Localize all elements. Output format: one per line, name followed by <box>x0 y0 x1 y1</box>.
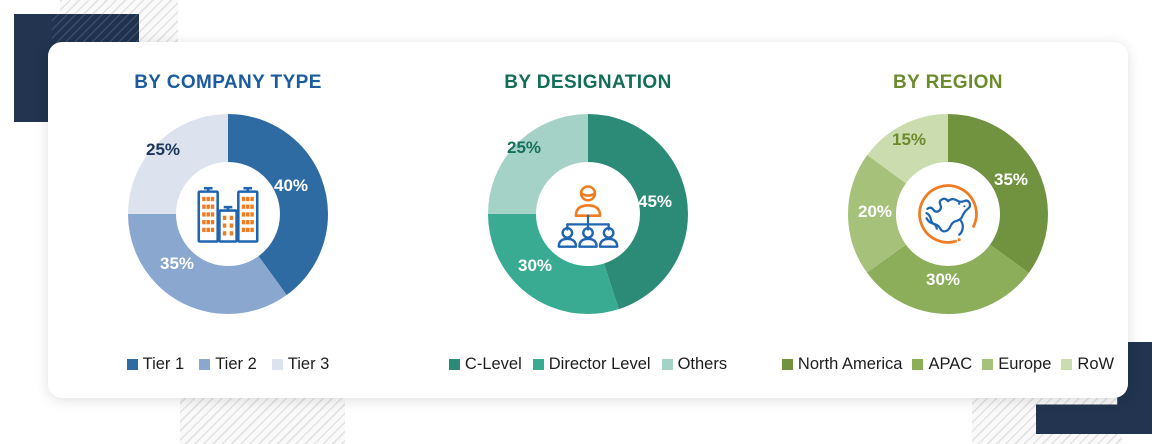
panel-title-region: BY REGION <box>893 72 1003 94</box>
legend-label: C-Level <box>465 355 522 374</box>
legend-swatch-icon <box>199 359 210 370</box>
donut-chart-region: 35% 30% 20% 15% <box>842 108 1054 320</box>
corner-bracket-top-left-solid <box>14 14 52 122</box>
legend-region: North America APAC Europe RoW <box>768 355 1128 374</box>
legend-label: Director Level <box>549 355 651 374</box>
legend-item-europe[interactable]: Europe <box>982 355 1051 374</box>
legend-item-north-america[interactable]: North America <box>782 355 903 374</box>
panel-title-designation: BY DESIGNATION <box>504 72 671 94</box>
legend-label: Europe <box>998 355 1051 374</box>
legend-item-director-level[interactable]: Director Level <box>533 355 651 374</box>
panel-by-region: BY REGION <box>768 42 1128 398</box>
donut-chart-company-type: 40% 35% 25% <box>122 108 334 320</box>
legend-swatch-icon <box>782 359 793 370</box>
legend-swatch-icon <box>449 359 460 370</box>
legend-label: Tier 1 <box>143 355 185 374</box>
buildings-icon <box>185 171 271 257</box>
legend-item-tier-3[interactable]: Tier 3 <box>272 355 330 374</box>
legend-label: Tier 3 <box>288 355 330 374</box>
legend-swatch-icon <box>912 359 923 370</box>
legend-item-tier-2[interactable]: Tier 2 <box>199 355 257 374</box>
panel-title-company-type: BY COMPANY TYPE <box>134 72 322 94</box>
legend-swatch-icon <box>272 359 283 370</box>
legend-label: North America <box>798 355 903 374</box>
legend-swatch-icon <box>982 359 993 370</box>
legend-swatch-icon <box>662 359 673 370</box>
globe-icon <box>905 171 991 257</box>
legend-swatch-icon <box>127 359 138 370</box>
legend-label: Others <box>678 355 728 374</box>
legend-designation: C-Level Director Level Others <box>408 355 768 374</box>
infographic-canvas: BY COMPANY TYPE <box>0 0 1170 444</box>
legend-label: APAC <box>928 355 972 374</box>
legend-label: RoW <box>1077 355 1114 374</box>
legend-item-c-level[interactable]: C-Level <box>449 355 522 374</box>
legend-swatch-icon <box>1061 359 1072 370</box>
panel-by-company-type: BY COMPANY TYPE <box>48 42 408 398</box>
legend-item-others[interactable]: Others <box>662 355 728 374</box>
panel-row: BY COMPANY TYPE <box>48 42 1128 398</box>
panel-by-designation: BY DESIGNATION <box>408 42 768 398</box>
chart-card: BY COMPANY TYPE <box>48 42 1128 398</box>
legend-item-row[interactable]: RoW <box>1061 355 1114 374</box>
legend-label: Tier 2 <box>215 355 257 374</box>
legend-swatch-icon <box>533 359 544 370</box>
org-chart-icon <box>545 171 631 257</box>
legend-item-apac[interactable]: APAC <box>912 355 972 374</box>
donut-chart-designation: 45% 30% 25% <box>482 108 694 320</box>
legend-company-type: Tier 1 Tier 2 Tier 3 <box>48 355 408 374</box>
legend-item-tier-1[interactable]: Tier 1 <box>127 355 185 374</box>
